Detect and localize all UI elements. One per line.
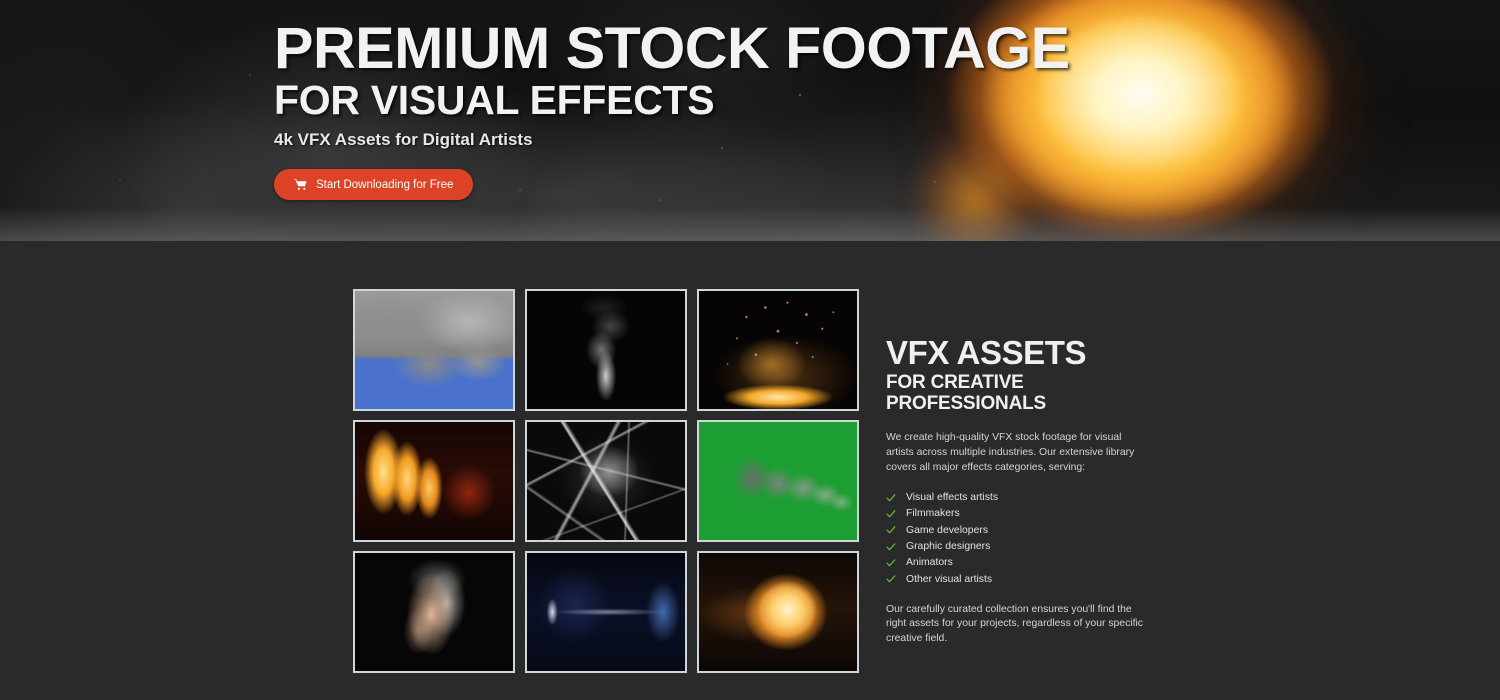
vfx-assets-section: VFX ASSETS FOR CREATIVE PROFESSIONALS We… [0,241,1500,700]
dust-explosion-image [355,553,513,671]
hero-tagline: 4k VFX Assets for Digital Artists [274,130,1054,150]
list-item: Visual effects artists [886,489,1148,505]
fire-flames-image [355,422,513,540]
thumbnail-fireball[interactable] [697,551,859,673]
list-item-label: Other visual artists [906,572,992,587]
thumbnail-fire-flames[interactable] [353,420,515,542]
start-downloading-button-label: Start Downloading for Free [316,179,453,191]
clouds-sky-image [355,291,513,409]
thumbnail-lens-flare[interactable] [525,551,687,673]
thumbnail-dust-explosion[interactable] [353,551,515,673]
check-icon [886,558,896,568]
thumbnail-white-smoke[interactable] [525,289,687,411]
start-downloading-button[interactable]: Start Downloading for Free [274,169,473,200]
list-item: Game developers [886,522,1148,538]
fireball-image [699,553,857,671]
list-item-label: Visual effects artists [906,490,998,505]
list-item: Graphic designers [886,538,1148,554]
info-closing-paragraph: Our carefully curated collection ensures… [886,603,1148,647]
lens-flare-image [527,553,685,671]
hero-banner: PREMIUM STOCK FOOTAGE FOR VISUAL EFFECTS… [0,0,1500,241]
list-item: Filmmakers [886,506,1148,522]
hero-bottom-haze [0,207,1500,241]
hero-title-sub: FOR VISUAL EFFECTS [274,80,1054,121]
shattering-glass-image [527,422,685,540]
info-subheading: FOR CREATIVE PROFESSIONALS [886,373,1148,414]
audience-list: Visual effects artists Filmmakers Game d… [886,489,1148,587]
shopping-cart-icon [294,178,307,191]
check-icon [886,574,896,584]
hero-copy: PREMIUM STOCK FOOTAGE FOR VISUAL EFFECTS… [274,22,1054,200]
info-heading: VFX ASSETS [886,336,1148,369]
list-item-label: Game developers [906,523,988,538]
info-paragraph: We create high-quality VFX stock footage… [886,431,1148,475]
smoke-greenscreen-image [699,422,857,540]
list-item-label: Filmmakers [906,506,960,521]
check-icon [886,493,896,503]
hero-title-main: PREMIUM STOCK FOOTAGE [274,22,1070,75]
check-icon [886,542,896,552]
white-smoke-image [527,291,685,409]
list-item-label: Graphic designers [906,539,990,554]
thumbnail-shattering-glass[interactable] [525,420,687,542]
thumbnail-clouds-sky[interactable] [353,289,515,411]
list-item: Animators [886,555,1148,571]
asset-thumbnail-grid [353,289,859,673]
list-item: Other visual artists [886,571,1148,587]
list-item-label: Animators [906,555,953,570]
check-icon [886,525,896,535]
thumbnail-smoke-greenscreen[interactable] [697,420,859,542]
sparks-image [699,291,857,409]
thumbnail-sparks[interactable] [697,289,859,411]
check-icon [886,509,896,519]
info-panel: VFX ASSETS FOR CREATIVE PROFESSIONALS We… [886,336,1148,647]
